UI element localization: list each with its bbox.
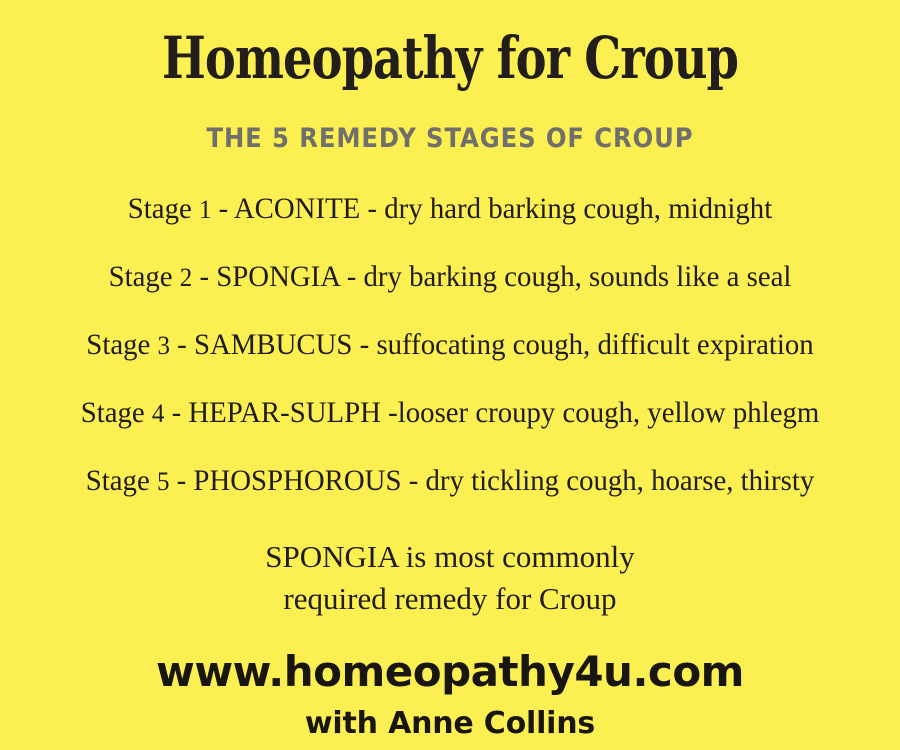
- stage-description: dry tickling cough, hoarse, thirsty: [426, 464, 815, 497]
- stage-list: Stage 1 - ACONITE - dry hard barking cou…: [0, 192, 900, 499]
- stage-list-item: Stage 4 - HEPAR-SULPH -looser croupy cou…: [18, 396, 882, 431]
- stage-separator-2: -: [347, 260, 357, 293]
- stage-label: Stage: [109, 260, 173, 293]
- stage-separator-2: -: [409, 464, 419, 497]
- stage-separator-1: -: [199, 260, 209, 293]
- stage-description: suffocating cough, difficult expiration: [376, 328, 813, 361]
- stage-label: Stage: [86, 328, 150, 361]
- stage-remedy: PHOSPHOROUS: [193, 464, 401, 497]
- stage-description: dry hard barking cough, midnight: [384, 192, 772, 225]
- stage-separator-1: -: [219, 192, 229, 225]
- stage-list-item: Stage 2 - SPONGIA - dry barking cough, s…: [18, 260, 882, 295]
- conclusion-line-2: required remedy for Croup: [0, 578, 900, 620]
- conclusion-text: SPONGIA is most commonly required remedy…: [0, 536, 900, 620]
- stage-remedy: SAMBUCUS: [194, 328, 352, 361]
- stage-label: Stage: [81, 396, 145, 429]
- stage-number: 4: [152, 399, 164, 428]
- stage-label: Stage: [128, 192, 192, 225]
- stage-number: 1: [199, 195, 211, 224]
- stage-remedy: HEPAR-SULPH: [188, 396, 381, 429]
- page-title: Homeopathy for Croup: [90, 25, 810, 91]
- conclusion-line-1: SPONGIA is most commonly: [0, 536, 900, 578]
- stage-remedy: SPONGIA: [216, 260, 339, 293]
- website-url: www.homeopathy4u.com: [0, 648, 900, 696]
- stage-number: 5: [157, 467, 169, 496]
- page-subtitle: THE 5 REMEDY STAGES OF CROUP: [45, 124, 855, 154]
- stage-list-item: Stage 5 - PHOSPHOROUS - dry tickling cou…: [18, 464, 882, 499]
- stage-list-item: Stage 1 - ACONITE - dry hard barking cou…: [18, 192, 882, 227]
- stage-remedy: ACONITE: [234, 192, 360, 225]
- stage-separator-1: -: [177, 328, 187, 361]
- author-byline: with Anne Collins: [0, 706, 900, 742]
- stage-separator-1: -: [177, 464, 187, 497]
- stage-number: 3: [158, 331, 170, 360]
- stage-separator-2: -: [367, 192, 377, 225]
- stage-list-item: Stage 3 - SAMBUCUS - suffocating cough, …: [18, 328, 882, 363]
- stage-description: looser croupy cough, yellow phlegm: [398, 396, 820, 429]
- stage-separator-2: -: [388, 396, 398, 429]
- stage-description: dry barking cough, sounds like a seal: [363, 260, 791, 293]
- poster-canvas: Homeopathy for Croup THE 5 REMEDY STAGES…: [0, 0, 900, 750]
- stage-separator-1: -: [172, 396, 182, 429]
- stage-number: 2: [180, 263, 192, 292]
- stage-label: Stage: [86, 464, 150, 497]
- stage-separator-2: -: [360, 328, 370, 361]
